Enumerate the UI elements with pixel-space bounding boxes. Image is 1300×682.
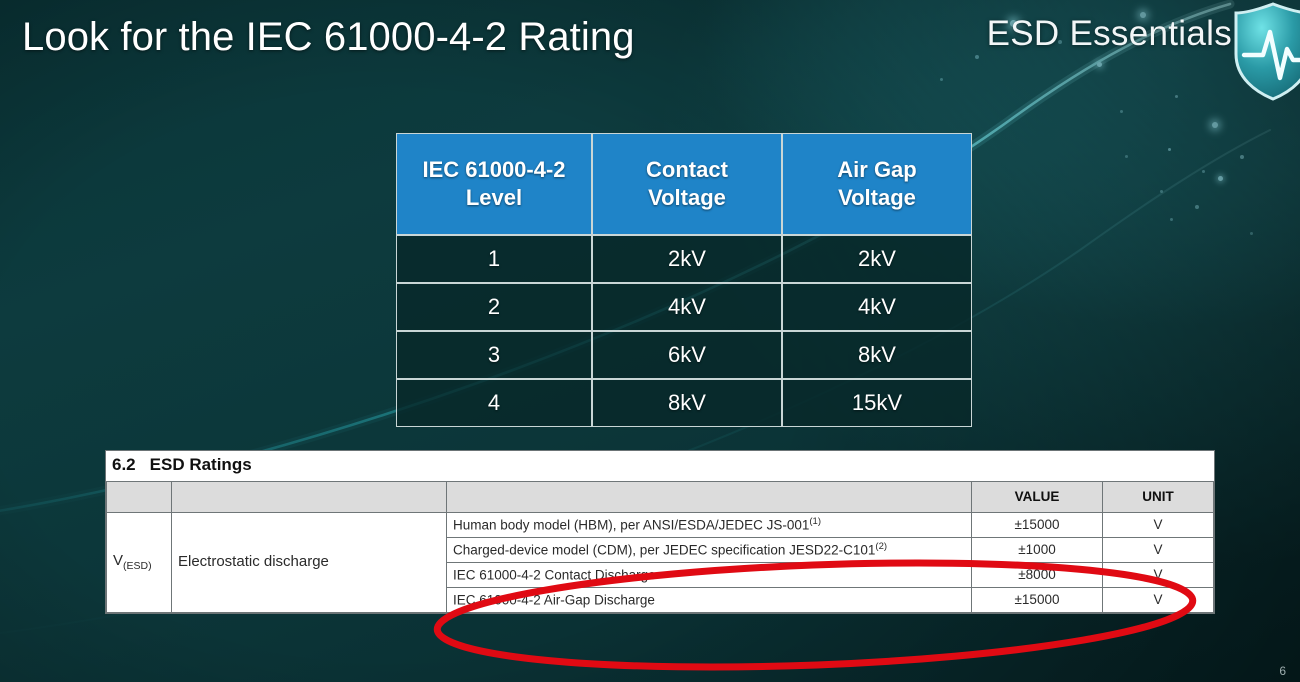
header-line-1: Contact — [646, 157, 728, 182]
cell-unit: V — [1103, 513, 1214, 538]
condition-text: Charged-device model (CDM), per JEDEC sp… — [453, 542, 875, 557]
cell-level: 1 — [396, 235, 592, 283]
section-title: ESD Ratings — [150, 455, 252, 474]
footnote-marker: (1) — [809, 516, 821, 527]
esd-ratings-table: VALUE UNIT V(ESD) Electrostatic discharg… — [106, 481, 1214, 613]
header-blank-symbol — [107, 482, 172, 513]
page-number: 6 — [1279, 664, 1286, 678]
header-line-2: Level — [466, 185, 522, 210]
cell-air-gap: 2kV — [782, 235, 972, 283]
bokeh-dot — [1175, 95, 1178, 98]
page-title: Look for the IEC 61000-4-2 Rating — [22, 13, 635, 61]
header-iec-level: IEC 61000-4-2 Level — [396, 133, 592, 235]
cell-parameter: Electrostatic discharge — [172, 513, 447, 613]
header-contact-voltage: Contact Voltage — [592, 133, 782, 235]
brand-label: ESD Essentials — [987, 14, 1232, 54]
bokeh-dot — [1212, 122, 1218, 128]
datasheet-excerpt: 6.2ESD Ratings VALUE UNIT V(ESD) Electro… — [105, 450, 1215, 614]
section-number: 6.2 — [112, 455, 136, 474]
bokeh-dot — [1125, 155, 1128, 158]
bokeh-dot — [975, 55, 979, 59]
symbol-base: V — [113, 552, 123, 569]
table-header-row: VALUE UNIT — [107, 482, 1214, 513]
bokeh-dot — [1160, 190, 1163, 193]
cell-contact: 4kV — [592, 283, 782, 331]
cell-condition: IEC 61000-4-2 Contact Discharge — [447, 562, 972, 587]
header-line-2: Voltage — [648, 185, 726, 210]
header-line-1: IEC 61000-4-2 — [422, 157, 565, 182]
cell-value: ±15000 — [972, 587, 1103, 612]
bokeh-dot — [1120, 110, 1123, 113]
iec-level-table: IEC 61000-4-2 Level Contact Voltage Air … — [396, 133, 972, 427]
header-blank-parameter — [172, 482, 447, 513]
header-air-gap-voltage: Air Gap Voltage — [782, 133, 972, 235]
cell-unit: V — [1103, 562, 1214, 587]
table-row: 4 8kV 15kV — [396, 379, 972, 427]
cell-value: ±8000 — [972, 562, 1103, 587]
cell-value: ±15000 — [972, 513, 1103, 538]
table-header-row: IEC 61000-4-2 Level Contact Voltage Air … — [396, 133, 972, 235]
cell-unit: V — [1103, 537, 1214, 562]
table-row: 1 2kV 2kV — [396, 235, 972, 283]
slide-canvas: Look for the IEC 61000-4-2 Rating ESD Es… — [0, 0, 1300, 682]
bokeh-dot — [1097, 62, 1102, 67]
cell-level: 4 — [396, 379, 592, 427]
cell-air-gap: 15kV — [782, 379, 972, 427]
table-row: V(ESD) Electrostatic discharge Human bod… — [107, 513, 1214, 538]
cell-level: 2 — [396, 283, 592, 331]
bokeh-dot — [1168, 148, 1171, 151]
cell-value: ±1000 — [972, 537, 1103, 562]
condition-text: IEC 61000-4-2 Air-Gap Discharge — [453, 592, 655, 607]
cell-contact: 8kV — [592, 379, 782, 427]
cell-air-gap: 4kV — [782, 283, 972, 331]
header-blank-condition — [447, 482, 972, 513]
table-row: 3 6kV 8kV — [396, 331, 972, 379]
cell-condition: Charged-device model (CDM), per JEDEC sp… — [447, 537, 972, 562]
bokeh-dot — [1195, 205, 1199, 209]
cell-symbol: V(ESD) — [107, 513, 172, 613]
condition-text: IEC 61000-4-2 Contact Discharge — [453, 567, 656, 582]
cell-contact: 2kV — [592, 235, 782, 283]
header-unit: UNIT — [1103, 482, 1214, 513]
header-line-2: Voltage — [838, 185, 916, 210]
cell-unit: V — [1103, 587, 1214, 612]
bokeh-dot — [1218, 176, 1223, 181]
bokeh-dot — [1170, 218, 1173, 221]
header-value: VALUE — [972, 482, 1103, 513]
bokeh-dot — [1250, 232, 1253, 235]
cell-air-gap: 8kV — [782, 331, 972, 379]
table-row: 2 4kV 4kV — [396, 283, 972, 331]
condition-text: Human body model (HBM), per ANSI/ESDA/JE… — [453, 518, 809, 533]
cell-condition: IEC 61000-4-2 Air-Gap Discharge — [447, 587, 972, 612]
datasheet-section-heading: 6.2ESD Ratings — [106, 451, 1214, 481]
footnote-marker: (2) — [875, 541, 887, 552]
bokeh-dot — [940, 78, 943, 81]
bokeh-dot — [1240, 155, 1244, 159]
cell-level: 3 — [396, 331, 592, 379]
header-line-1: Air Gap — [837, 157, 916, 182]
bokeh-dot — [1202, 170, 1205, 173]
cell-condition: Human body model (HBM), per ANSI/ESDA/JE… — [447, 513, 972, 538]
symbol-subscript: (ESD) — [123, 560, 152, 572]
shield-pulse-icon — [1230, 2, 1300, 102]
cell-contact: 6kV — [592, 331, 782, 379]
